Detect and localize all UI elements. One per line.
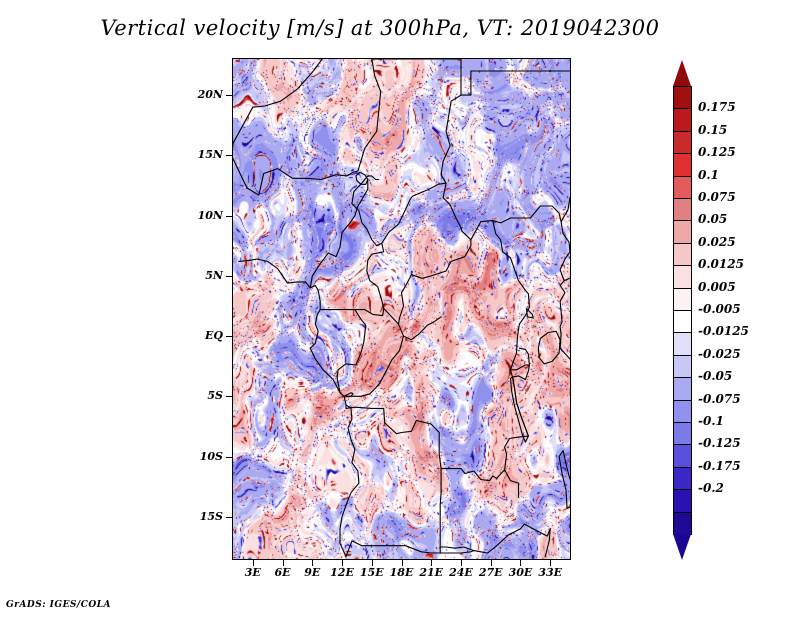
y-axis-tick-mark bbox=[226, 216, 232, 217]
border-polyline bbox=[239, 260, 251, 261]
colorbar-tick-label: 0.15 bbox=[698, 123, 727, 137]
border-polyline bbox=[511, 348, 530, 370]
x-axis-tick-mark bbox=[372, 560, 373, 566]
border-polyline bbox=[545, 529, 550, 557]
border-polyline bbox=[560, 348, 570, 393]
map-plot-area bbox=[232, 58, 571, 560]
y-axis-tick-label: 10S bbox=[183, 450, 223, 463]
border-polyline bbox=[346, 308, 404, 396]
border-polyline bbox=[344, 393, 353, 397]
border-polyline bbox=[560, 281, 565, 349]
y-axis-tick-label: 5N bbox=[183, 269, 223, 282]
colorbar-band bbox=[673, 153, 692, 176]
colorbar-band bbox=[673, 400, 692, 423]
colorbar-extend-arrow-top bbox=[673, 60, 691, 86]
colorbar-tick-label: -0.075 bbox=[698, 392, 741, 406]
colorbar-band bbox=[673, 288, 692, 311]
colorbar-band bbox=[673, 198, 692, 221]
border-polyline bbox=[511, 377, 529, 442]
colorbar-band bbox=[673, 310, 692, 333]
colorbar-band bbox=[673, 265, 692, 288]
colorbar-band bbox=[673, 332, 692, 355]
y-axis-tick-mark bbox=[226, 457, 232, 458]
colorbar-band bbox=[673, 108, 692, 131]
colorbar-tick-label: -0.005 bbox=[698, 302, 741, 316]
colorbar-tick-label: -0.125 bbox=[698, 436, 741, 450]
colorbar-tick-label: -0.2 bbox=[698, 481, 724, 495]
colorbar-tick-label: -0.05 bbox=[698, 369, 732, 383]
border-polyline bbox=[441, 95, 471, 240]
y-axis-tick-mark bbox=[226, 336, 232, 337]
colorbar-band bbox=[673, 444, 692, 467]
x-axis-tick-mark bbox=[253, 560, 254, 566]
colorbar-tick-label: 0.0125 bbox=[698, 257, 744, 271]
colorbar-tick-label: 0.005 bbox=[698, 280, 736, 294]
y-axis-tick-label: 15N bbox=[183, 148, 223, 161]
border-polyline bbox=[399, 240, 471, 324]
colorbar-tick-label: 0.025 bbox=[698, 235, 736, 249]
x-axis-tick-mark bbox=[342, 560, 343, 566]
border-polyline bbox=[560, 222, 570, 281]
x-axis-tick-mark bbox=[312, 560, 313, 566]
x-axis-tick-mark bbox=[431, 560, 432, 566]
colorbar-band bbox=[673, 243, 692, 266]
border-polyline bbox=[493, 220, 530, 336]
border-polyline bbox=[247, 169, 358, 196]
border-polyline bbox=[440, 469, 455, 549]
colorbar bbox=[673, 60, 692, 560]
border-polyline bbox=[358, 59, 381, 171]
attribution-footer: GrADS: IGES/COLA bbox=[6, 600, 111, 610]
colorbar-band bbox=[673, 355, 692, 378]
colorbar-tick-label: 0.125 bbox=[698, 145, 736, 159]
colorbar-tick-label: 0.075 bbox=[698, 190, 736, 204]
y-axis-tick-label: 15S bbox=[183, 510, 223, 523]
border-polyline bbox=[337, 310, 366, 393]
colorbar-band bbox=[673, 131, 692, 154]
border-polyline bbox=[440, 551, 474, 553]
y-axis-tick-label: 5S bbox=[183, 389, 223, 402]
border-polyline bbox=[441, 469, 505, 481]
colorbar-band bbox=[673, 220, 692, 243]
x-axis-tick-mark bbox=[550, 560, 551, 566]
y-axis-tick-mark bbox=[226, 95, 232, 96]
colorbar-band bbox=[673, 489, 692, 512]
colorbar-tick-label: -0.1 bbox=[698, 414, 724, 428]
colorbar-band bbox=[673, 377, 692, 400]
border-polyline bbox=[564, 276, 570, 294]
x-axis-tick-label: 33E bbox=[530, 566, 570, 579]
y-axis-tick-label: 20N bbox=[183, 88, 223, 101]
colorbar-tick-label: -0.0125 bbox=[698, 324, 749, 338]
x-axis-tick-mark bbox=[491, 560, 492, 566]
colorbar-tick-label: 0.1 bbox=[698, 168, 719, 182]
country-borders-overlay bbox=[233, 59, 570, 559]
border-polyline bbox=[310, 180, 368, 288]
border-polyline bbox=[561, 113, 570, 222]
colorbar-tick-label: 0.05 bbox=[698, 212, 727, 226]
page-title: Vertical velocity [m/s] at 300hPa, VT: 2… bbox=[0, 16, 760, 40]
border-polyline bbox=[346, 541, 440, 557]
x-axis-tick-mark bbox=[461, 560, 462, 566]
colorbar-band bbox=[673, 176, 692, 199]
border-polyline bbox=[538, 331, 560, 364]
x-axis-tick-mark bbox=[520, 560, 521, 566]
y-axis-tick-mark bbox=[226, 155, 232, 156]
y-axis-tick-mark bbox=[226, 276, 232, 277]
border-polyline bbox=[251, 259, 320, 324]
colorbar-band bbox=[673, 86, 692, 109]
colorbar-extend-arrow-bottom bbox=[673, 534, 691, 560]
border-polyline bbox=[310, 324, 359, 556]
colorbar-band bbox=[673, 467, 692, 490]
border-polyline bbox=[352, 176, 446, 246]
y-axis-tick-label: EQ bbox=[183, 329, 223, 342]
colorbar-band bbox=[673, 422, 692, 445]
border-polyline bbox=[346, 405, 441, 469]
x-axis-tick-mark bbox=[283, 560, 284, 566]
border-polyline bbox=[404, 317, 442, 340]
colorbar-tick-label: -0.025 bbox=[698, 347, 741, 361]
border-polyline bbox=[471, 206, 561, 240]
y-axis-tick-mark bbox=[226, 396, 232, 397]
colorbar-tick-label: -0.175 bbox=[698, 459, 741, 473]
border-polyline bbox=[455, 524, 550, 553]
border-polyline bbox=[505, 336, 529, 498]
border-polyline bbox=[526, 308, 533, 318]
colorbar-tick-label: 0.175 bbox=[698, 100, 736, 114]
y-axis-tick-label: 10N bbox=[183, 209, 223, 222]
border-polyline bbox=[559, 451, 570, 509]
colorbar-band bbox=[673, 512, 692, 535]
border-polyline bbox=[461, 59, 570, 95]
x-axis-tick-mark bbox=[402, 560, 403, 566]
y-axis-tick-mark bbox=[226, 517, 232, 518]
